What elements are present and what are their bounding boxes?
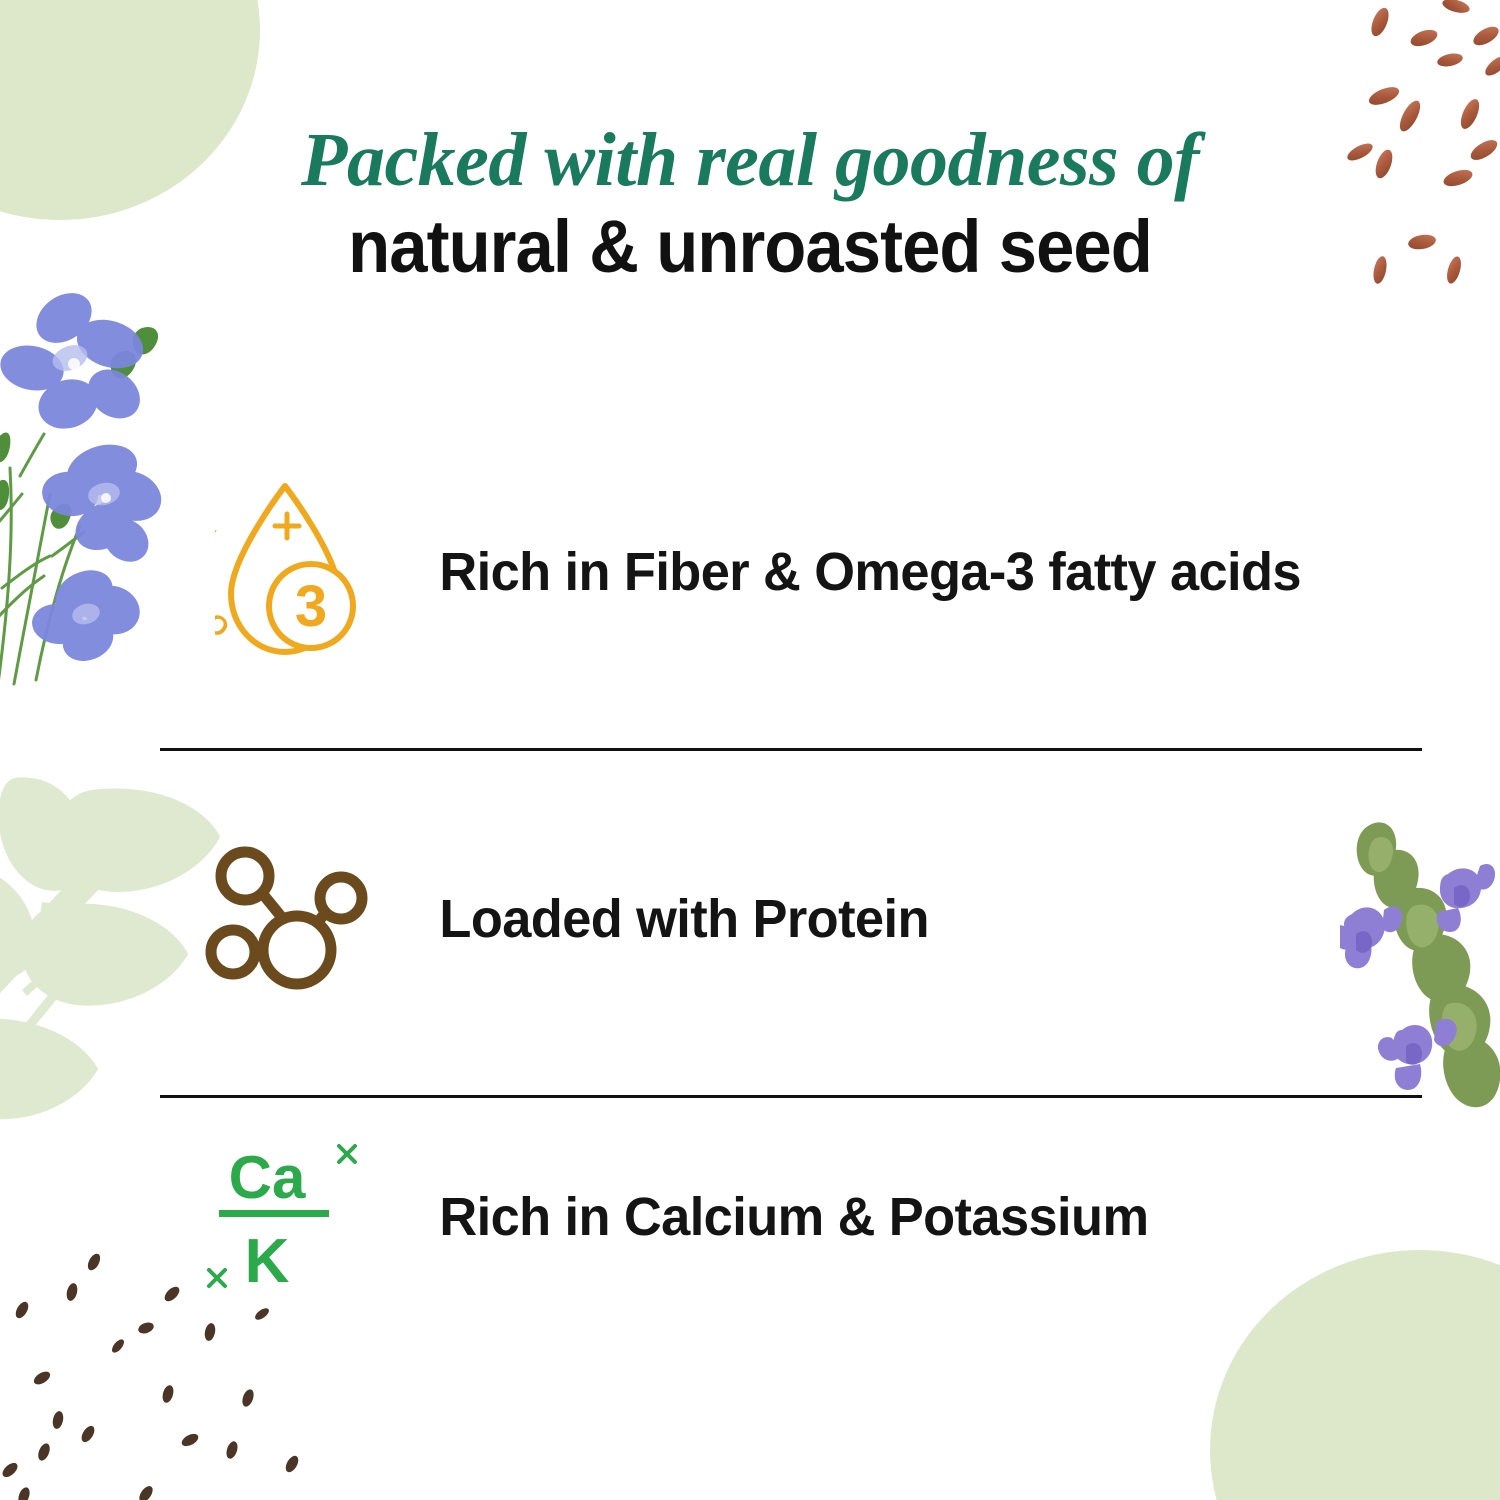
benefit-row-omega3: OMEGA 3 Rich in Fiber & Omega-3 fatty ac… [160,478,1420,668]
omega-number-label: 3 [295,574,327,639]
omega-3-droplet-icon: OMEGA 3 [215,478,365,668]
plus-icon [275,514,299,538]
benefit-icon-slot [160,825,420,1015]
infographic-page: Packed with real goodness of natural & u… [0,0,1500,1500]
benefit-row-calcium-potassium: Ca K Rich in Calcium & Potassium [160,1128,1420,1308]
protein-molecule-icon [205,840,375,1000]
fraction-bar [219,1210,329,1217]
divider-2 [160,1095,1422,1098]
benefit-text-calcium-potassium: Rich in Calcium & Potassium [420,1186,1390,1250]
potassium-symbol-label: K [245,1227,290,1296]
cross-mark-top-right-icon [339,1146,355,1162]
calcium-potassium-icon: Ca K [205,1136,375,1301]
headline-line-2: natural & unroasted seed [53,206,1448,289]
benefit-row-protein: Loaded with Protein [160,825,1420,1015]
benefit-text-protein: Loaded with Protein [420,888,1390,952]
benefit-icon-slot: OMEGA 3 [160,478,420,668]
headline-block: Packed with real goodness of natural & u… [0,122,1500,288]
headline-line-1: Packed with real goodness of [0,122,1500,200]
divider-1 [160,748,1422,751]
benefit-icon-slot: Ca K [160,1128,420,1308]
calcium-symbol-label: Ca [229,1144,306,1211]
benefit-text-omega3: Rich in Fiber & Omega-3 fatty acids [420,541,1390,605]
cross-mark-bottom-left-icon [209,1270,225,1286]
